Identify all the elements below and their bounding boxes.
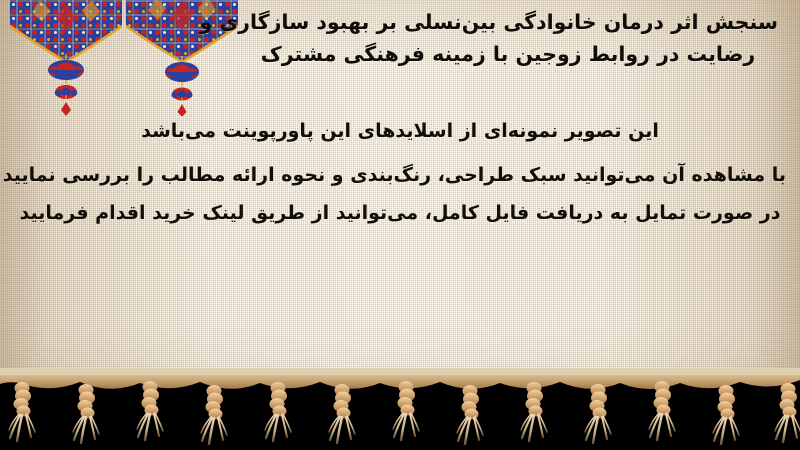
body-line-1: این تصویر نمونه‌ای از اسلایدهای این پاور… [14,112,786,150]
slide-body-text: این تصویر نمونه‌ای از اسلایدهای این پاور… [14,112,786,232]
bottom-black-band [0,368,800,450]
carpet-fringe [0,368,800,450]
title-line-1: سنجش اثر درمان خانوادگی بین‌نسلی بر بهبو… [238,6,778,38]
slide-canvas: سنجش اثر درمان خانوادگی بین‌نسلی بر بهبو… [0,0,800,450]
body-line-3: در صورت تمایل به دریافت فایل کامل، می‌تو… [14,194,786,232]
body-line-2: با مشاهده آن می‌توانید سبک طراحی، رنگ‌بن… [14,156,786,194]
tazhib-ornament-left [10,0,122,116]
title-line-2: رضایت در روابط زوجین با زمینه فرهنگی مشت… [238,38,778,70]
slide-title: سنجش اثر درمان خانوادگی بین‌نسلی بر بهبو… [238,6,778,70]
